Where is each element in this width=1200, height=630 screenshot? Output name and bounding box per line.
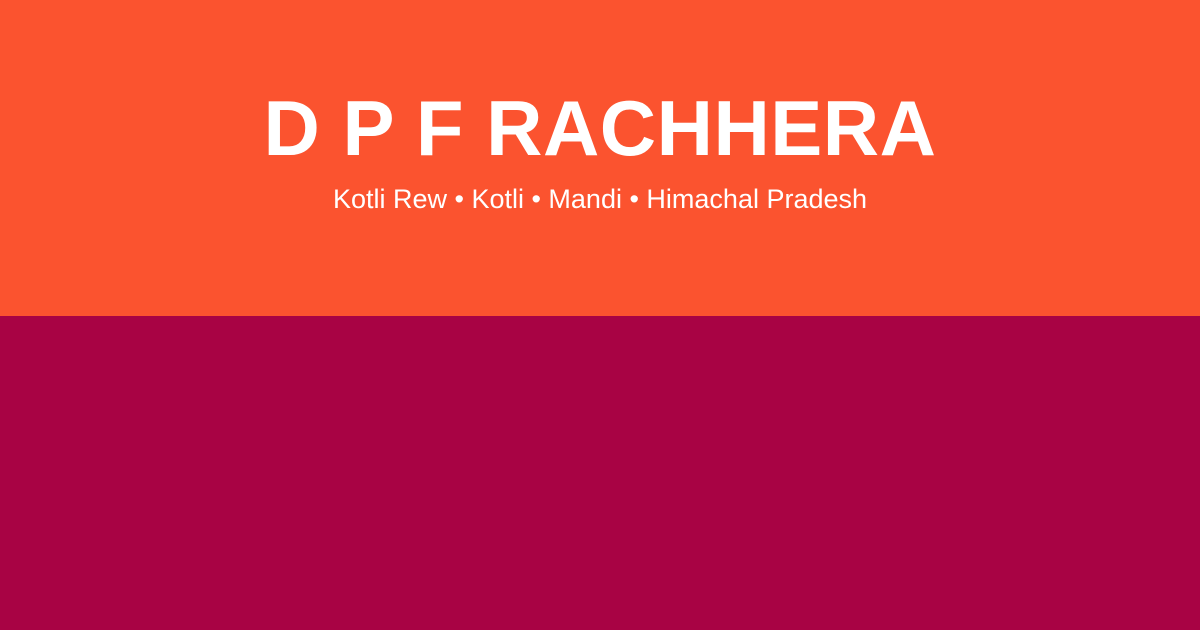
content-body: Town: Mandi VillageDataBase.com: [0, 316, 1200, 630]
page-title: D P F RACHHERA: [0, 85, 1200, 171]
info-card: D P F RACHHERA Kotli Rew • Kotli • Mandi…: [0, 0, 1200, 630]
header-banner: D P F RACHHERA Kotli Rew • Kotli • Mandi…: [0, 0, 1200, 316]
location-breadcrumb: Kotli Rew • Kotli • Mandi • Himachal Pra…: [0, 182, 1200, 216]
